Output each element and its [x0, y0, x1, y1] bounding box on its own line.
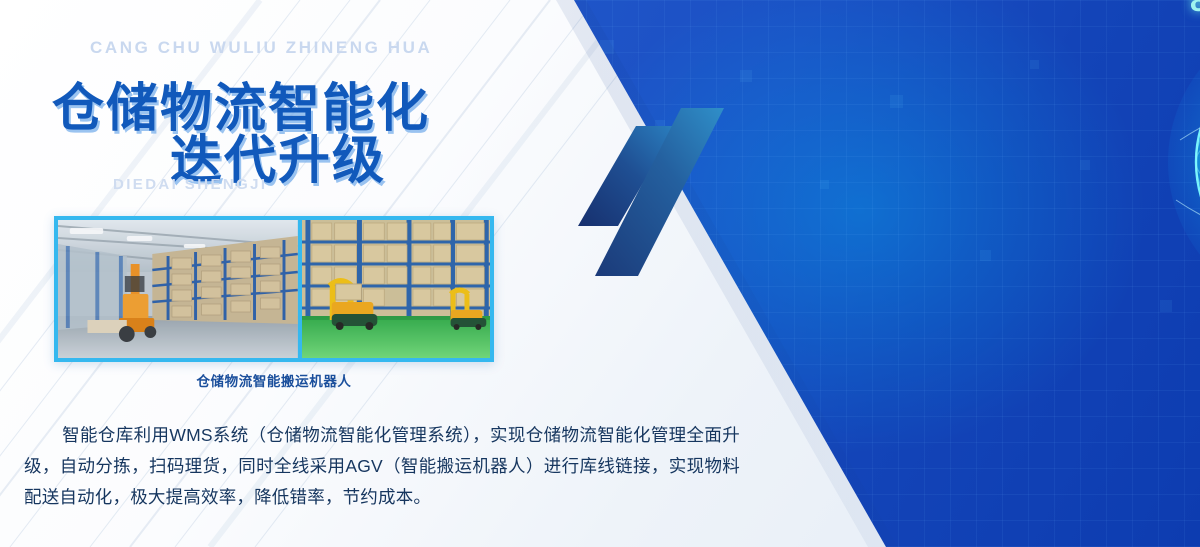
photo-frame	[54, 216, 494, 362]
poster-canvas: 8888个 本周统计数 9999个 本月统计数 业务名称 业务名 业务名	[0, 0, 1200, 547]
photo-warehouse-forklift	[58, 220, 298, 358]
pinyin-top: CANG CHU WULIU ZHINENG HUA	[90, 38, 432, 58]
pinyin-bottom: DIEDAI SHENGJI	[113, 176, 267, 193]
body-paragraph: 智能仓库利用WMS系统（仓储物流智能化管理系统），实现仓储物流智能化管理全面升级…	[24, 420, 740, 513]
counter-week-caption: 本周统计数	[1190, 28, 1200, 47]
slash-decoration	[576, 108, 726, 278]
photo-caption: 仓储物流智能搬运机器人	[54, 370, 494, 390]
counter-week-value: 8888	[1190, 0, 1200, 18]
top-counters: 8888个 本周统计数 9999个 本月统计数	[1120, 0, 1200, 56]
body-text: 智能仓库利用WMS系统（仓储物流智能化管理系统），实现仓储物流智能化管理全面升级…	[24, 425, 740, 507]
counter-week: 8888个 本周统计数	[1190, 0, 1200, 47]
photo-agv-robots	[302, 220, 490, 358]
